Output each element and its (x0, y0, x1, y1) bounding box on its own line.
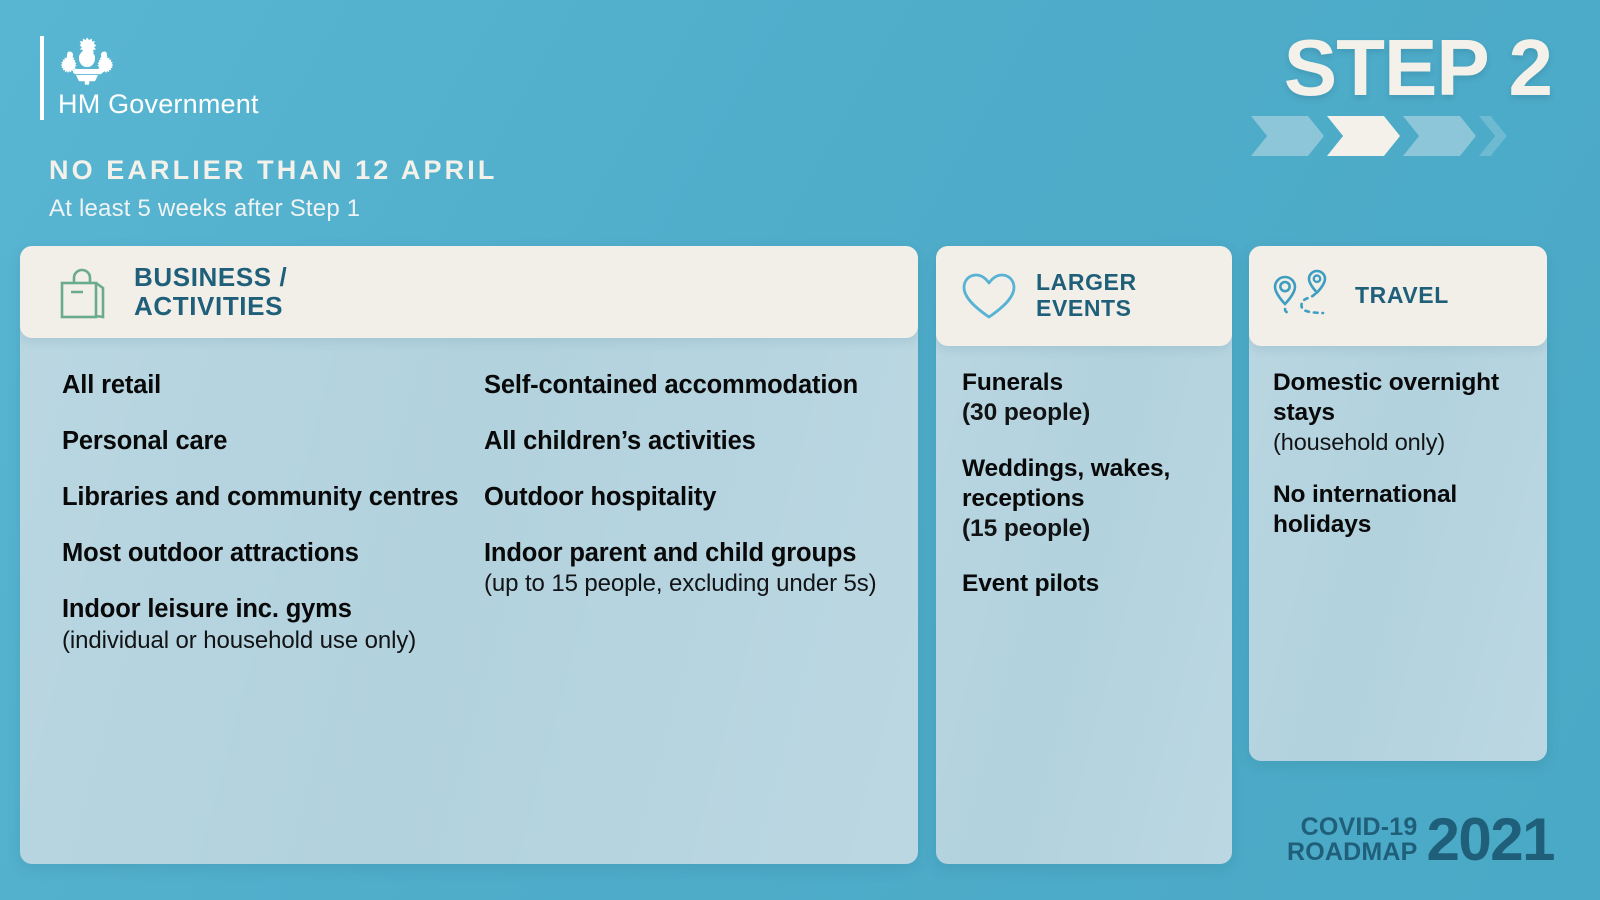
card-body-business: All retail Personal care Libraries and c… (20, 346, 918, 680)
hm-government-logo: HM Government (40, 36, 259, 120)
item-text: No international holidays (1273, 480, 1529, 540)
card-body-events: Funerals (30 people) Weddings, wakes, re… (936, 358, 1232, 625)
card-header-travel: TRAVEL (1249, 246, 1547, 346)
step-logo: STEP 2 (1251, 30, 1552, 156)
roadmap-line-2: ROADMAP (1287, 840, 1418, 865)
card-title-business: BUSINESS / ACTIVITIES (134, 263, 287, 321)
card-title-travel: TRAVEL (1355, 283, 1449, 309)
card-business-activities: BUSINESS / ACTIVITIES All retail Persona… (20, 246, 918, 864)
list-item: Event pilots (962, 569, 1212, 599)
chevron-step-3 (1403, 116, 1476, 156)
step-label: STEP 2 (1284, 30, 1552, 106)
item-text: Domestic overnight stays (1273, 368, 1529, 428)
card-header-events: LARGER EVENTS (936, 246, 1232, 346)
item-subtext: (household only) (1273, 428, 1529, 457)
list-item: Most outdoor attractions (62, 538, 462, 569)
list-item: Indoor leisure inc. gyms (individual or … (62, 594, 462, 654)
business-column-2: Self-contained accommodation All childre… (484, 370, 884, 680)
item-subtext: (up to 15 people, excluding under 5s) (484, 569, 884, 598)
royal-coat-of-arms-icon (60, 36, 114, 86)
list-item: Domestic overnight stays (household only… (1273, 368, 1529, 456)
list-item: All retail (62, 370, 462, 401)
shopping-bag-icon (56, 263, 108, 321)
item-subtext: (15 people) (962, 514, 1212, 544)
chevron-step-1 (1251, 116, 1324, 156)
item-subtext: (individual or household use only) (62, 626, 462, 655)
date-subheadline: At least 5 weeks after Step 1 (49, 195, 360, 223)
item-subtext: (30 people) (962, 398, 1212, 428)
business-column-1: All retail Personal care Libraries and c… (62, 370, 462, 680)
card-body-travel: Domestic overnight stays (household only… (1249, 358, 1547, 564)
map-pin-route-icon (1269, 269, 1341, 323)
roadmap-line-1: COVID-19 (1287, 815, 1418, 840)
item-text: All children’s activities (484, 426, 884, 457)
list-item: No international holidays (1273, 480, 1529, 540)
logo-rule (40, 36, 44, 120)
item-text: Event pilots (962, 569, 1212, 599)
step-progress-chevrons (1251, 116, 1552, 156)
item-text: All retail (62, 370, 462, 401)
covid-roadmap-logo: COVID-19 ROADMAP 2021 (1287, 814, 1554, 866)
item-text: Indoor leisure inc. gyms (62, 594, 462, 625)
item-text: Self-contained accommodation (484, 370, 884, 401)
item-text: Personal care (62, 426, 462, 457)
list-item: Weddings, wakes, receptions (15 people) (962, 454, 1212, 544)
list-item: Self-contained accommodation (484, 370, 884, 401)
card-title-events: LARGER EVENTS (1036, 270, 1137, 322)
infographic-canvas: HM Government NO EARLIER THAN 12 APRIL A… (0, 0, 1600, 900)
hm-government-label: HM Government (58, 89, 259, 120)
card-header-business: BUSINESS / ACTIVITIES (20, 246, 918, 338)
item-text: Most outdoor attractions (62, 538, 462, 569)
card-larger-events: LARGER EVENTS Funerals (30 people) Weddi… (936, 246, 1232, 864)
list-item: Outdoor hospitality (484, 482, 884, 513)
card-travel: TRAVEL Domestic overnight stays (househo… (1249, 246, 1547, 761)
heart-icon (958, 268, 1020, 324)
item-text: Outdoor hospitality (484, 482, 884, 513)
roadmap-year: 2021 (1427, 814, 1554, 866)
list-item: Personal care (62, 426, 462, 457)
item-text: Indoor parent and child groups (484, 538, 884, 569)
date-headline: NO EARLIER THAN 12 APRIL (49, 155, 497, 186)
list-item: Libraries and community centres (62, 482, 462, 513)
item-text: Libraries and community centres (62, 482, 462, 513)
item-text: Weddings, wakes, receptions (962, 454, 1212, 514)
item-text: Funerals (962, 368, 1212, 398)
chevron-step-4 (1479, 116, 1552, 156)
roadmap-wordmark: COVID-19 ROADMAP (1287, 815, 1418, 865)
list-item: Indoor parent and child groups (up to 15… (484, 538, 884, 598)
list-item: Funerals (30 people) (962, 368, 1212, 428)
list-item: All children’s activities (484, 426, 884, 457)
chevron-step-2-active (1327, 116, 1400, 156)
